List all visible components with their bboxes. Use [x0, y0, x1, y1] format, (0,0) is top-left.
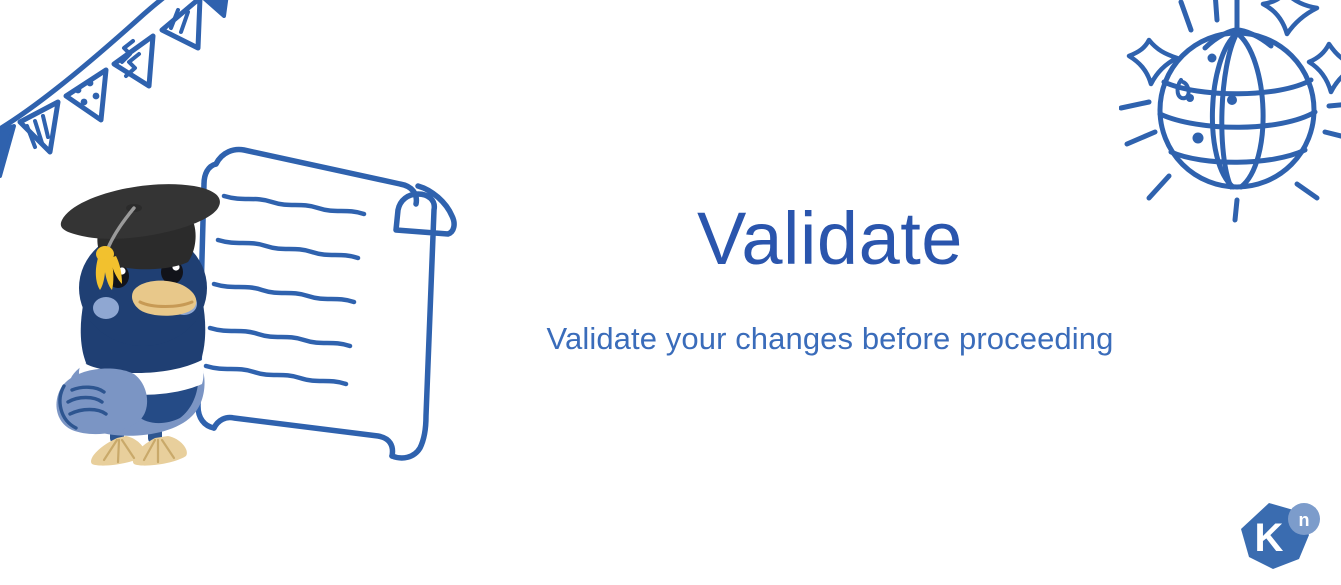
diploma-scroll — [198, 150, 454, 458]
mascot-and-diploma-illustration — [48, 138, 468, 478]
graduate-bird-mascot — [56, 184, 219, 465]
bunting-flag-dots — [66, 70, 106, 120]
text-block: Validate Validate your changes before pr… — [470, 200, 1190, 357]
bunting-flag-solid-left — [0, 126, 14, 176]
disco-ball-decoration — [1119, 0, 1341, 226]
logo-letter-k: K — [1255, 516, 1284, 560]
scroll-text-lines — [206, 196, 364, 384]
page-title: Validate — [470, 200, 1190, 278]
disco-ball-sparkles — [1129, 0, 1341, 92]
disco-ball-facet-dots — [1186, 54, 1237, 144]
bird-wing — [56, 369, 147, 435]
bird-feet — [91, 436, 187, 466]
slide-canvas: Validate Validate your changes before pr… — [0, 0, 1341, 585]
logo-letter-n: n — [1299, 510, 1310, 530]
bunting-flag-solid-right — [162, 0, 230, 48]
bunting-flag-zigzag — [114, 36, 153, 86]
disco-ball-rays — [1121, 0, 1341, 220]
brand-logo[interactable]: K n — [1231, 497, 1327, 577]
page-subtitle: Validate your changes before proceeding — [470, 320, 1190, 357]
